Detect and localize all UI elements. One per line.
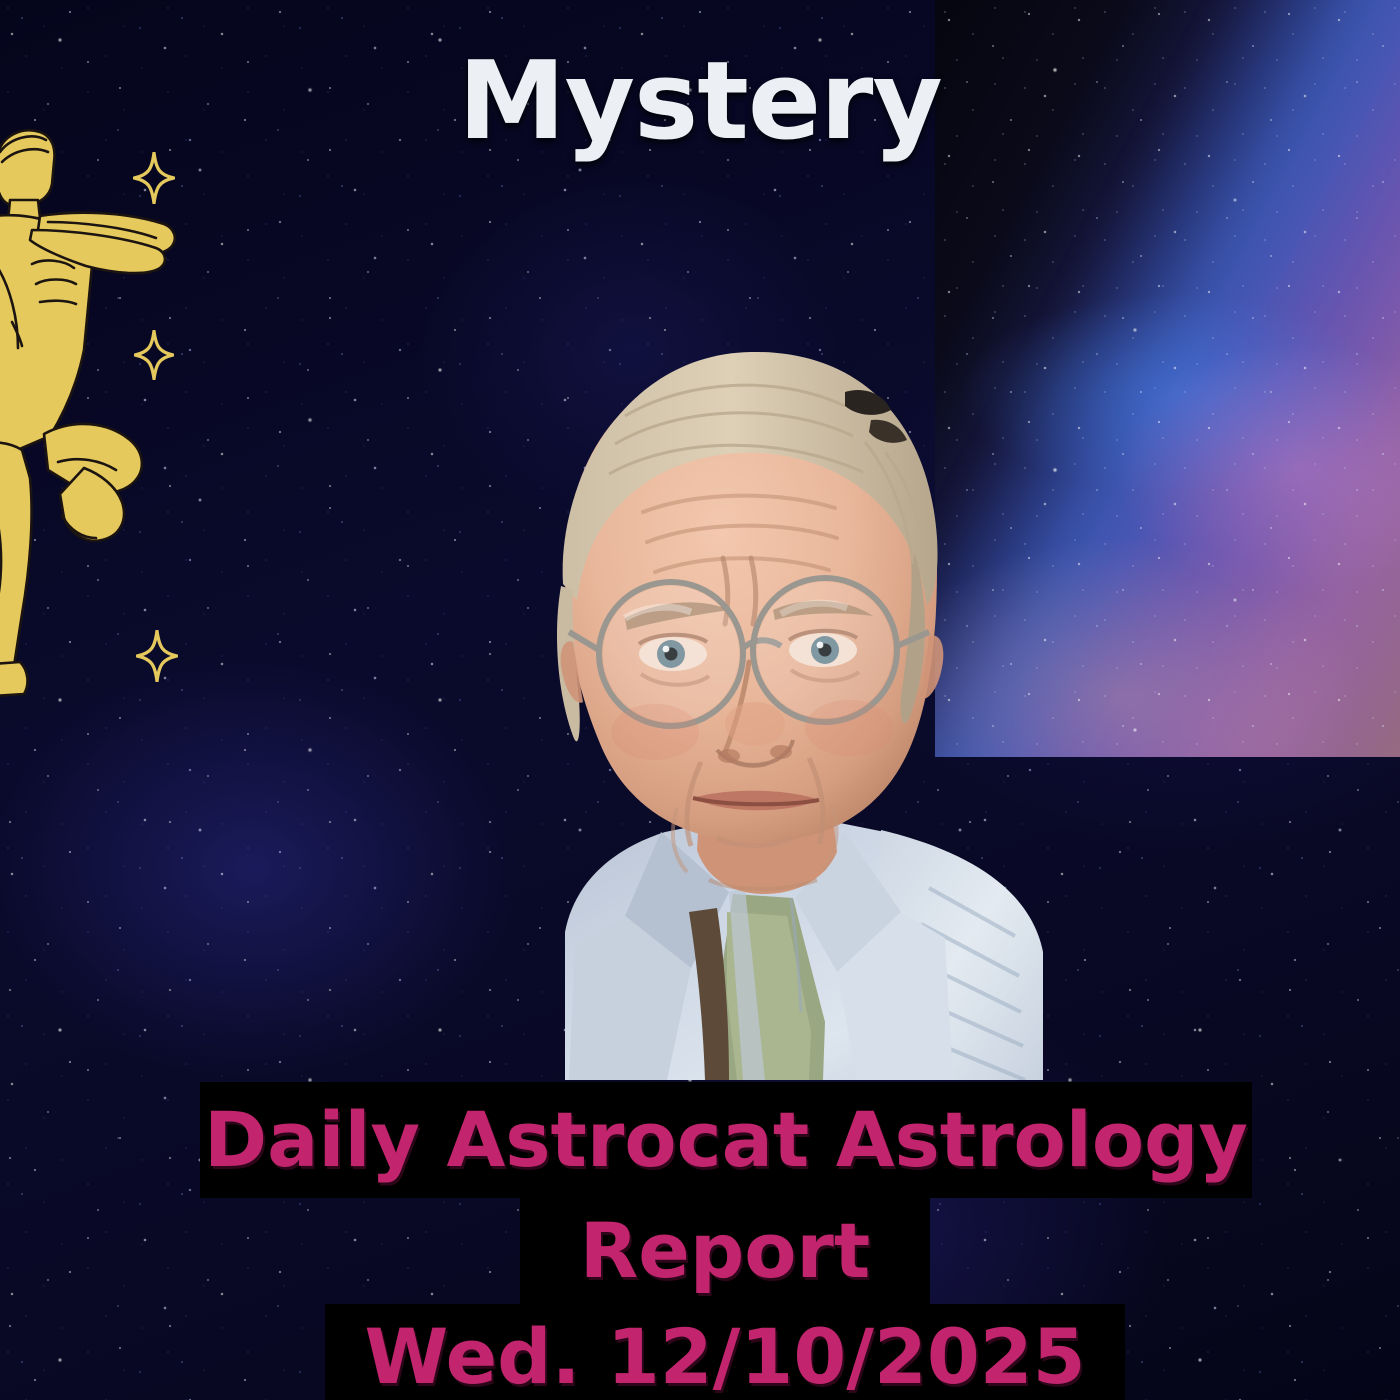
title-line-1: Daily Astrocat Astrology [200,1082,1252,1198]
title-line-2: Report [520,1198,930,1304]
four-point-star-sparkle-icon [134,330,174,380]
zodiac-figure-graphic [0,118,198,718]
host-portrait-photo [325,332,1115,1080]
four-point-star-sparkle-icon [136,630,178,682]
title-line-3-date: Wed. 12/10/2025 [325,1304,1125,1400]
headline-mystery: Mystery [0,48,1400,156]
thumbnail-canvas: Mystery Daily Astrocat Astrology Report … [0,0,1400,1400]
four-point-star-sparkle-icon [133,152,175,204]
